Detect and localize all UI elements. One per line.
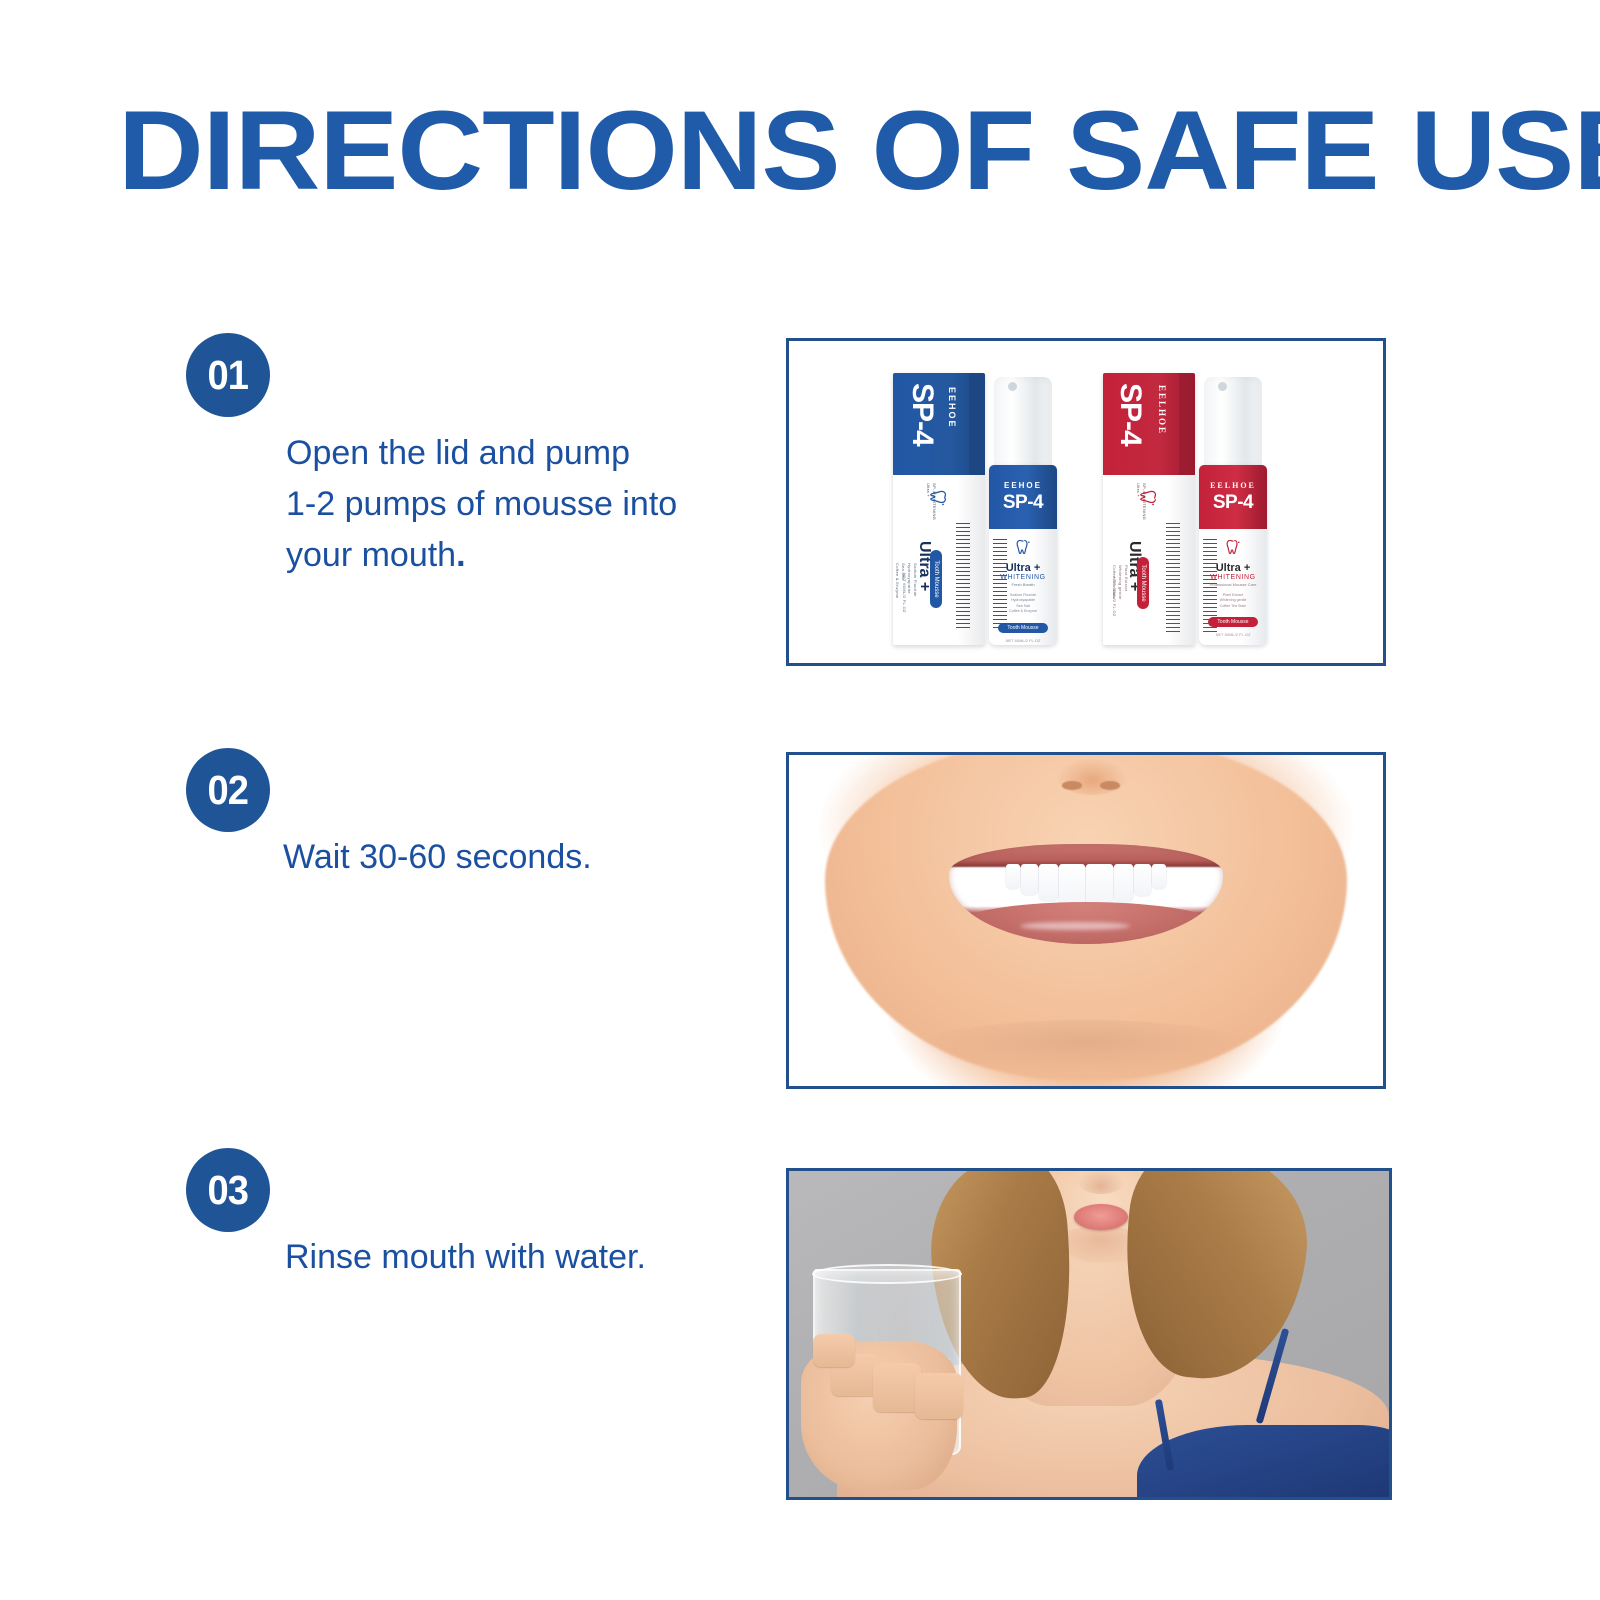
- carton-red-micro-top: SP-4 WHITENINGUltra +: [1135, 483, 1147, 520]
- bottle-blue-barrel: EEHOE SP-4 Ultra + WHITENING Fresh Breat…: [989, 465, 1057, 645]
- carton-red: EELHOE SP-4 SP-4 WHITENINGUltra + Ultra …: [1103, 373, 1195, 645]
- image-panel-product: EEHOE SP-4 SP-4 WHITENINGUltra + Ultra +…: [786, 338, 1386, 666]
- step-text-01: Open the lid and pump 1-2 pumps of mouss…: [286, 428, 756, 581]
- infographic-page: DIRECTIONS OF SAFE USE 01 Open the lid a…: [0, 0, 1600, 1600]
- carton-red-badge: Tooth Mousse: [1137, 557, 1149, 609]
- bottle-red-name: SP-4: [1213, 492, 1253, 514]
- image-panel-smile: [786, 752, 1386, 1089]
- carton-red-net: NET 60ML/2 FL.OZ: [1111, 577, 1117, 617]
- bottle-blue-fineprint: Sodium FluorideHydroxyapatiteSea SaltCof…: [1009, 593, 1037, 615]
- carton-blue-micro-top: SP-4 WHITENINGUltra +: [925, 483, 937, 520]
- carton-blue-badge: Tooth Mousse: [930, 550, 942, 608]
- bottle-blue-net: NET 60ML/2 FL.OZ: [1006, 638, 1041, 643]
- bottle-red-pump: [1204, 377, 1262, 469]
- step-text-03: Rinse mouth with water.: [285, 1232, 805, 1283]
- bottle-red-claim: WHITENING: [1210, 574, 1255, 581]
- carton-red-brand: EELHOE: [1157, 385, 1167, 435]
- tooth: [1039, 864, 1058, 901]
- pursed-lips: [1074, 1204, 1128, 1230]
- glass-rim: [812, 1264, 962, 1284]
- bottle-blue-stripes: [993, 539, 1007, 631]
- carton-red-stripes: [1166, 523, 1180, 633]
- finger: [915, 1373, 963, 1419]
- bottle-blue-claim: WHITENING: [1000, 574, 1045, 581]
- thumb: [813, 1334, 855, 1367]
- step-01-line-2: 1-2 pumps of mousse into: [286, 485, 677, 523]
- step-badge-03: 03: [186, 1148, 270, 1232]
- bottle-red-stripes: [1203, 539, 1217, 635]
- bottle-red-barrel: EELHOE SP-4 Ultra + WHITENING Profession…: [1199, 465, 1267, 645]
- lip-highlight: [1020, 922, 1129, 930]
- carton-blue-name: SP-4: [905, 383, 939, 446]
- bottle-red-nozzle: [1218, 382, 1227, 391]
- step-01-line-3: your mouth: [286, 536, 456, 574]
- bottle-blue-nozzle: [1008, 382, 1017, 391]
- step-number-01: 01: [208, 352, 249, 399]
- bottle-red-tier: Ultra +: [1216, 562, 1251, 574]
- bottle-red: EELHOE SP-4 Ultra + WHITENING Profession…: [1195, 377, 1271, 645]
- page-title: DIRECTIONS OF SAFE USE: [118, 92, 1600, 210]
- bottle-red-net: NET 60ML/2 FL.OZ: [1216, 632, 1251, 637]
- product-packshot: EEHOE SP-4 SP-4 WHITENINGUltra + Ultra +…: [789, 341, 1383, 663]
- step-badge-01: 01: [186, 333, 270, 417]
- bottle-blue: EEHOE SP-4 Ultra + WHITENING Fresh Breat…: [985, 377, 1061, 645]
- step-text-02: Wait 30-60 seconds.: [283, 832, 803, 883]
- smile-photo: [789, 755, 1383, 1086]
- bottle-red-band: EELHOE SP-4: [1199, 465, 1267, 529]
- tooth: [1021, 864, 1038, 895]
- bottle-blue-name: SP-4: [1003, 492, 1043, 514]
- tooth: [1134, 864, 1151, 896]
- carton-blue-stripes: [956, 523, 970, 629]
- finger: [873, 1363, 921, 1412]
- bottle-blue-pump: [994, 377, 1052, 469]
- chin-shadow: [920, 1020, 1253, 1073]
- step-number-03: 03: [208, 1167, 249, 1214]
- rinse-photo: [789, 1171, 1389, 1497]
- bottle-red-brand: EELHOE: [1210, 481, 1256, 490]
- tooth: [1152, 864, 1166, 889]
- step-01-line-1: Open the lid and pump: [286, 434, 630, 472]
- bottle-blue-tier: Ultra +: [1006, 562, 1041, 574]
- tooth-icon-bottle-blue: [1015, 539, 1032, 556]
- carton-red-name: SP-4: [1113, 383, 1147, 446]
- bottle-blue-subclaim: Fresh Breath: [1011, 582, 1034, 587]
- image-panel-rinse: [786, 1168, 1392, 1500]
- step-number-02: 02: [208, 767, 249, 814]
- carton-blue: EEHOE SP-4 SP-4 WHITENINGUltra + Ultra +…: [893, 373, 985, 645]
- step-01-period: .: [456, 536, 465, 574]
- carton-blue-brand: EEHOE: [947, 387, 957, 429]
- tooth-icon-bottle-red: [1225, 539, 1242, 556]
- bottle-red-fineprint: Plant ExtractWhitening gentleCoffee Tea …: [1220, 593, 1247, 609]
- carton-blue-net: NET 60ML/2 FL.OZ: [901, 573, 907, 613]
- tooth: [1006, 864, 1020, 889]
- tooth: [1114, 864, 1133, 901]
- smiling-mouth: [949, 844, 1222, 943]
- step-badge-02: 02: [186, 748, 270, 832]
- bottle-blue-band: EEHOE SP-4: [989, 465, 1057, 529]
- bottle-blue-brand: EEHOE: [1004, 481, 1042, 490]
